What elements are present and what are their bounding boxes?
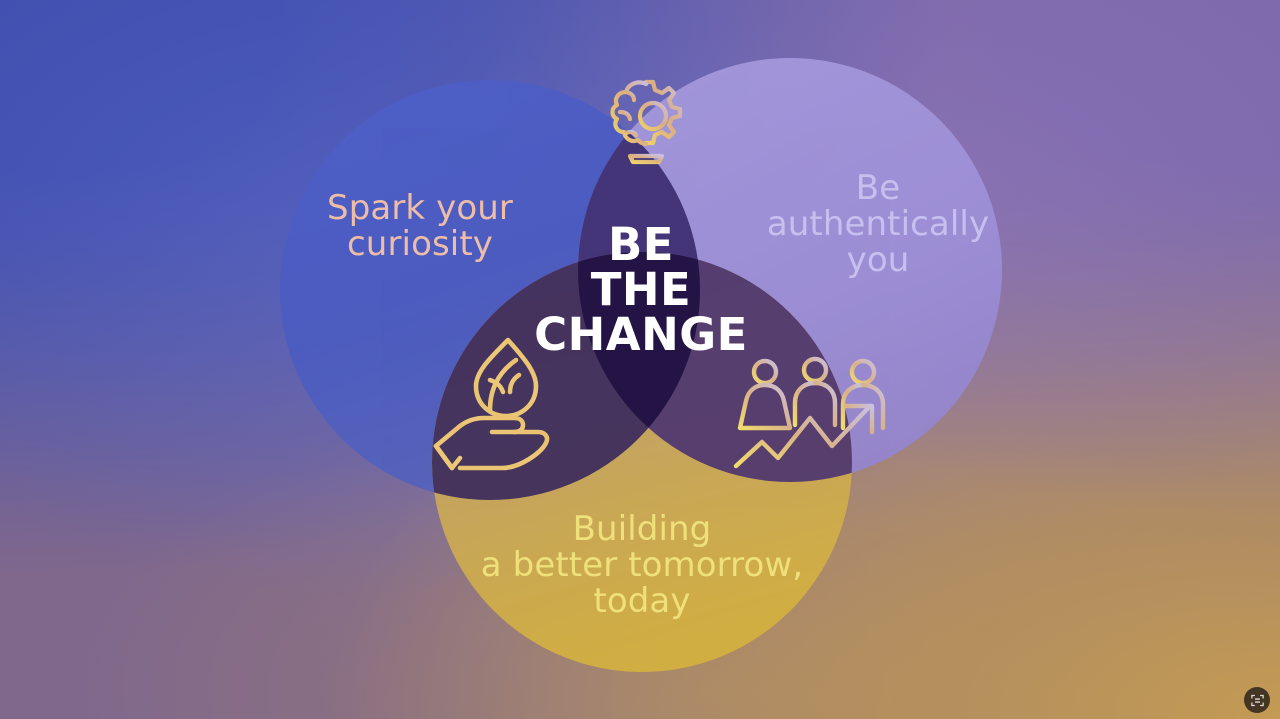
venn-center-title: BE THE CHANGE	[480, 222, 802, 357]
fullscreen-icon	[1250, 693, 1265, 708]
fullscreen-button[interactable]	[1244, 687, 1270, 713]
venn-label-tomorrow: Building a better tomorrow, today	[432, 511, 852, 619]
presentation-slide: Spark your curiosity Be authentically yo…	[0, 0, 1280, 719]
